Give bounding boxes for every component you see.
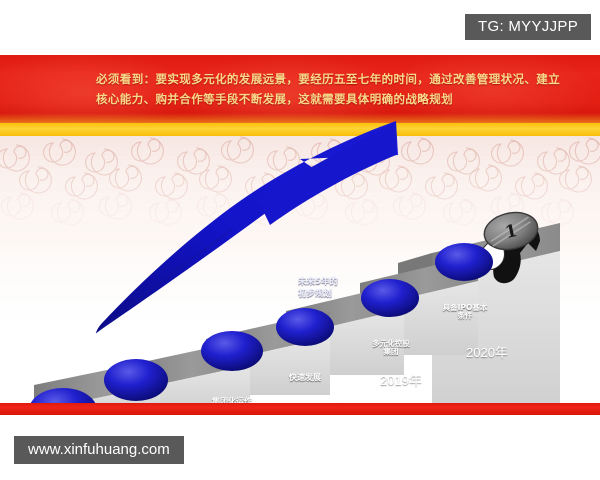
- staircase-diagram: 1: [0, 55, 600, 415]
- slide-bottom-red-bar: [0, 403, 600, 415]
- bubble-3: [201, 331, 263, 371]
- bubble-2: [104, 359, 168, 401]
- bubble-5: [361, 279, 419, 317]
- bubble-4: [276, 308, 334, 346]
- bubble-6: [435, 243, 493, 281]
- slide-canvas: TG: MYYJJPP 必须看到：要实现多元化的发展远景，要经历五至七年的时间，…: [0, 0, 600, 480]
- presentation-slide: 必须看到：要实现多元化的发展远景，要经历五至七年的时间，通过改善管理状况、建立 …: [0, 55, 600, 415]
- tg-watermark-tag: TG: MYYJJPP: [465, 14, 591, 40]
- site-url-watermark: www.xinfuhuang.com: [14, 436, 184, 464]
